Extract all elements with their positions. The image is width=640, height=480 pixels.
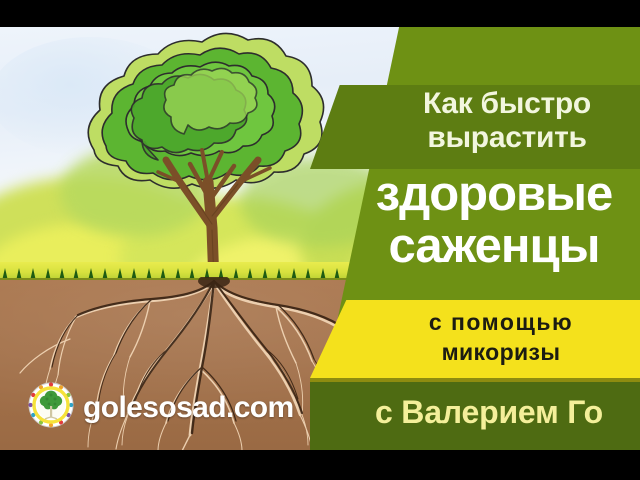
title-highlight-2: саженцы [354,222,634,272]
title-line-2: вырастить [382,123,632,154]
tree-emblem-logo-icon [28,382,74,433]
letterbox-bottom [0,450,640,480]
site-name: golesosad.com [83,391,294,425]
letterbox-top [0,0,640,27]
subtitle-line-2: микоризы [376,341,626,364]
title-line-1: Как быстро [382,89,632,120]
brand-lockup[interactable]: golesosad.com [28,382,294,433]
author-credit: с Валерием Го [344,396,634,429]
subtitle-line-1: с помощью [376,311,626,334]
thumbnail-stage: Как быстро вырастить здоровые саженцы с … [0,0,640,480]
photo-area: Как быстро вырастить здоровые саженцы с … [0,27,640,450]
title-highlight-1: здоровые [354,170,634,220]
